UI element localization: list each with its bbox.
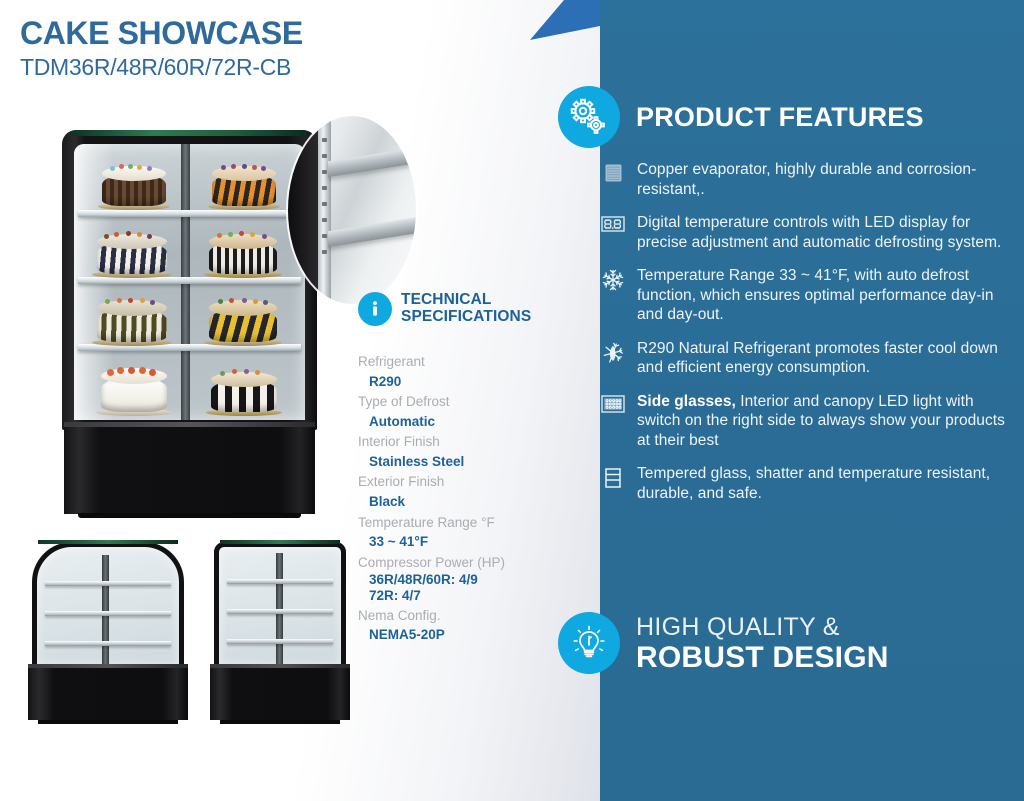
- spec-value: Stainless Steel: [358, 452, 558, 472]
- shelf: [78, 277, 301, 284]
- spec-row: Temperature Range °F 33 ~ 41°F: [358, 513, 558, 552]
- tech-spec-header: TECHNICAL SPECIFICATIONS: [358, 292, 558, 326]
- feature-text: Tempered glass, shatter and temperature …: [637, 464, 1021, 503]
- spec-label: Compressor Power (HP): [358, 553, 558, 573]
- quality-line2: ROBUST DESIGN: [636, 641, 889, 674]
- spec-label: Refrigerant: [358, 352, 558, 372]
- product-features-title: PRODUCT FEATURES: [636, 102, 924, 133]
- tech-spec-title-line1: TECHNICAL: [401, 292, 531, 309]
- spec-value: Black: [358, 492, 558, 512]
- curved-glass-showcase-image: [28, 538, 188, 726]
- case-glass: [74, 144, 305, 420]
- product-features-header: PRODUCT FEATURES: [558, 86, 924, 148]
- spec-value: Automatic: [358, 412, 558, 432]
- cake: [92, 234, 172, 278]
- spec-row: Compressor Power (HP) 36R/48R/60R: 4/9 7…: [358, 553, 558, 605]
- feature-item: Tempered glass, shatter and temperature …: [601, 464, 1021, 503]
- feature-text: Digital temperature controls with LED di…: [637, 213, 1021, 252]
- spec-row: Exterior Finish Black: [358, 472, 558, 511]
- case-canopy-light: [72, 130, 307, 136]
- lightbulb-icon: [558, 612, 620, 674]
- feature-item: Copper evaporator, highly durable and co…: [601, 160, 1021, 199]
- spec-label: Nema Config.: [358, 606, 558, 626]
- cake: [98, 166, 170, 210]
- feature-text: Copper evaporator, highly durable and co…: [637, 160, 1021, 199]
- spec-value: R290: [358, 372, 558, 392]
- spec-label: Type of Defrost: [358, 392, 558, 412]
- page-title: CAKE SHOWCASE TDM36R/48R/60R/72R-CB: [20, 16, 303, 80]
- case-base: [64, 422, 315, 514]
- grid-glass-icon: [601, 392, 625, 451]
- shelf-bracket-detail-inset: [288, 116, 416, 304]
- feature-item: Side glasses, Interior and canopy LED li…: [601, 392, 1021, 451]
- feature-list: Copper evaporator, highly durable and co…: [601, 160, 1021, 517]
- snowflake-icon: [601, 266, 625, 325]
- spec-value: 36R/48R/60R: 4/9 72R: 4/7: [358, 572, 558, 604]
- spec-label: Exterior Finish: [358, 472, 558, 492]
- cake-showcase-main-image: [62, 122, 317, 510]
- digital-display-icon: [601, 213, 625, 252]
- cake: [92, 300, 172, 346]
- quality-line1: HIGH QUALITY &: [636, 613, 889, 641]
- tech-spec-title: TECHNICAL SPECIFICATIONS: [401, 292, 531, 325]
- quality-text: HIGH QUALITY & ROBUST DESIGN: [636, 613, 889, 674]
- cake: [204, 300, 282, 346]
- quality-header: HIGH QUALITY & ROBUST DESIGN: [558, 612, 889, 674]
- cake: [206, 372, 282, 416]
- square-glass-showcase-image: [210, 538, 350, 726]
- cake: [204, 234, 282, 278]
- cake: [96, 368, 172, 416]
- spec-value: NEMA5-20P: [358, 625, 558, 645]
- evaporator-coil-icon: [601, 160, 625, 199]
- shelf: [78, 210, 301, 217]
- tech-spec-title-line2: SPECIFICATIONS: [401, 309, 531, 326]
- spec-label: Interior Finish: [358, 432, 558, 452]
- spec-row: Refrigerant R290: [358, 352, 558, 391]
- product-models: TDM36R/48R/60R/72R-CB: [20, 55, 303, 80]
- spec-list: Refrigerant R290 Type of Defrost Automat…: [358, 352, 558, 645]
- frost-burst-icon: [601, 339, 625, 378]
- product-name: CAKE SHOWCASE: [20, 16, 303, 51]
- info-icon: [358, 292, 392, 326]
- cake: [208, 166, 280, 210]
- feature-item: Digital temperature controls with LED di…: [601, 213, 1021, 252]
- feature-text: R290 Natural Refrigerant promotes faster…: [637, 339, 1021, 378]
- spec-label: Temperature Range °F: [358, 513, 558, 533]
- spec-row: Type of Defrost Automatic: [358, 392, 558, 431]
- shelf-rack-icon: [601, 464, 625, 503]
- feature-text: Temperature Range 33 ~ 41°F, with auto d…: [637, 266, 1021, 325]
- spec-row: Interior Finish Stainless Steel: [358, 432, 558, 471]
- feature-item: Temperature Range 33 ~ 41°F, with auto d…: [601, 266, 1021, 325]
- feature-item: R290 Natural Refrigerant promotes faster…: [601, 339, 1021, 378]
- spec-row: Nema Config. NEMA5-20P: [358, 606, 558, 645]
- feature-text-bold: Side glasses,: [637, 393, 736, 410]
- feature-text: Side glasses, Interior and canopy LED li…: [637, 392, 1021, 451]
- spec-value: 33 ~ 41°F: [358, 532, 558, 552]
- gears-icon: [558, 86, 620, 148]
- technical-specifications: TECHNICAL SPECIFICATIONS Refrigerant R29…: [358, 292, 558, 646]
